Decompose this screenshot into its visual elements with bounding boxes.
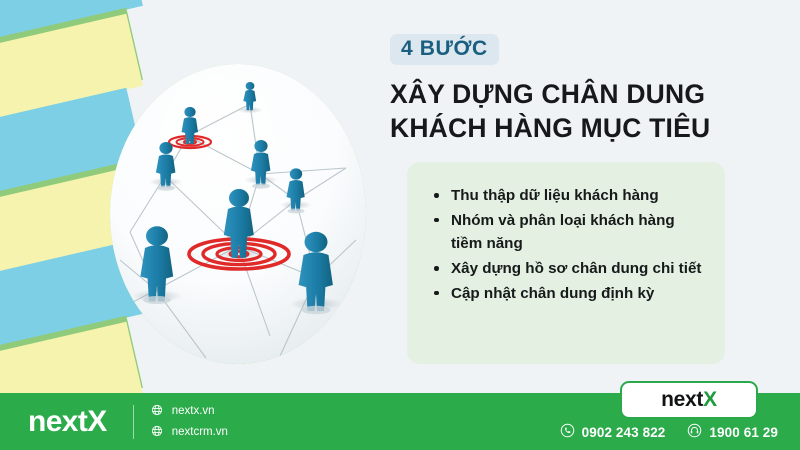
steps-panel: Thu thập dữ liệu khách hàng Nhóm và phân… — [407, 162, 725, 364]
headline-block: 4 BƯỚC XÂY DỰNG CHÂN DUNG KHÁCH HÀNG MỤC… — [390, 34, 780, 146]
footer-phone-hotline[interactable]: 1900 61 29 — [687, 423, 778, 441]
footer-phone-label: 1900 61 29 — [709, 425, 778, 440]
illustration-inner — [110, 64, 366, 364]
title-line-1: XÂY DỰNG CHÂN DUNG — [390, 77, 780, 111]
globe-icon — [151, 425, 163, 440]
brand-badge-accent: X — [703, 388, 717, 411]
brand-badge-main: next — [661, 388, 703, 411]
steps-list: Thu thập dữ liệu khách hàng Nhóm và phân… — [429, 184, 709, 306]
headset-icon — [687, 423, 702, 441]
list-item: Xây dựng hồ sơ chân dung chi tiết — [447, 257, 709, 281]
footer-phone-list: 0902 243 822 1900 61 29 — [560, 423, 778, 441]
brand-badge-text: nextX — [661, 388, 717, 412]
footer-logo: nextX — [28, 405, 107, 439]
title-line-2: KHÁCH HÀNG MỤC TIÊU — [390, 111, 780, 145]
list-item: Cập nhật chân dung định kỳ — [447, 282, 709, 306]
footer-phone-label: 0902 243 822 — [582, 425, 666, 440]
step-count-badge: 4 BƯỚC — [390, 34, 499, 65]
network-graphic — [110, 64, 366, 364]
footer-site-nextcrm[interactable]: nextcrm.vn — [151, 425, 228, 440]
globe-icon — [151, 404, 163, 419]
brand-badge: nextX — [620, 381, 758, 419]
footer-phone-mobile[interactable]: 0902 243 822 — [560, 423, 666, 441]
list-item: Thu thập dữ liệu khách hàng — [447, 184, 709, 208]
footer-divider — [133, 405, 134, 439]
poster-canvas: 4 BƯỚC XÂY DỰNG CHÂN DUNG KHÁCH HÀNG MỤC… — [0, 0, 800, 450]
footer-site-label: nextx.vn — [172, 405, 215, 417]
footer-site-list: nextx.vn nextcrm.vn — [151, 404, 228, 440]
customer-network-illustration — [96, 58, 392, 366]
footer-site-nextx[interactable]: nextx.vn — [151, 404, 228, 419]
footer-site-label: nextcrm.vn — [172, 426, 228, 438]
page-title: XÂY DỰNG CHÂN DUNG KHÁCH HÀNG MỤC TIÊU — [390, 77, 780, 146]
phone-icon — [560, 423, 575, 441]
list-item: Nhóm và phân loại khách hàng tiềm năng — [447, 209, 709, 256]
